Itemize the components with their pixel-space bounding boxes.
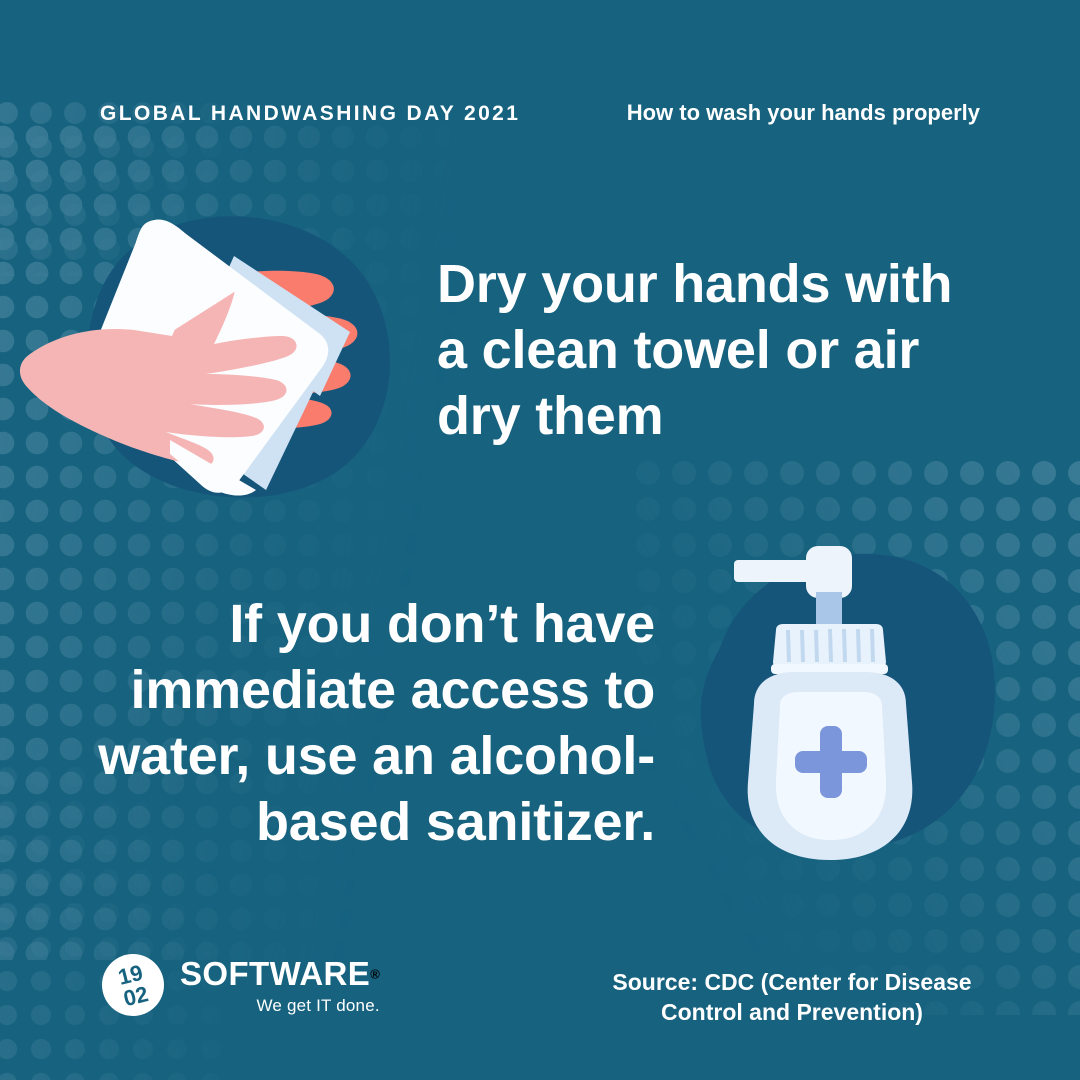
infographic-poster: GLOBAL HANDWASHING DAY 2021 How to wash … [0,0,1080,1080]
sanitizer-bottle-illustration [676,530,1016,895]
logo-wordmark-group: SOFTWARE® We get IT done. [180,957,380,1014]
hand-towel-illustration [20,182,420,517]
logo-tagline: We get IT done. [180,997,380,1014]
poster-kicker: GLOBAL HANDWASHING DAY 2021 [100,102,520,126]
logo-wordmark: SOFTWARE [180,957,370,990]
registered-trademark-mark: ® [370,966,380,981]
source-credit: Source: CDC (Center for Disease Control … [602,968,982,1028]
pump-head [806,546,852,598]
brand-logo[interactable]: 19 02 SOFTWARE® We get IT done. [100,952,380,1018]
tip-dry-hands-text: Dry your hands with a clean towel or air… [437,252,967,450]
tip-use-sanitizer-text: If you don’t have immediate access to wa… [40,592,655,856]
logo-badge-1902: 19 02 [100,952,166,1018]
poster-header: GLOBAL HANDWASHING DAY 2021 How to wash … [100,100,980,126]
poster-subtitle: How to wash your hands properly [627,100,980,126]
